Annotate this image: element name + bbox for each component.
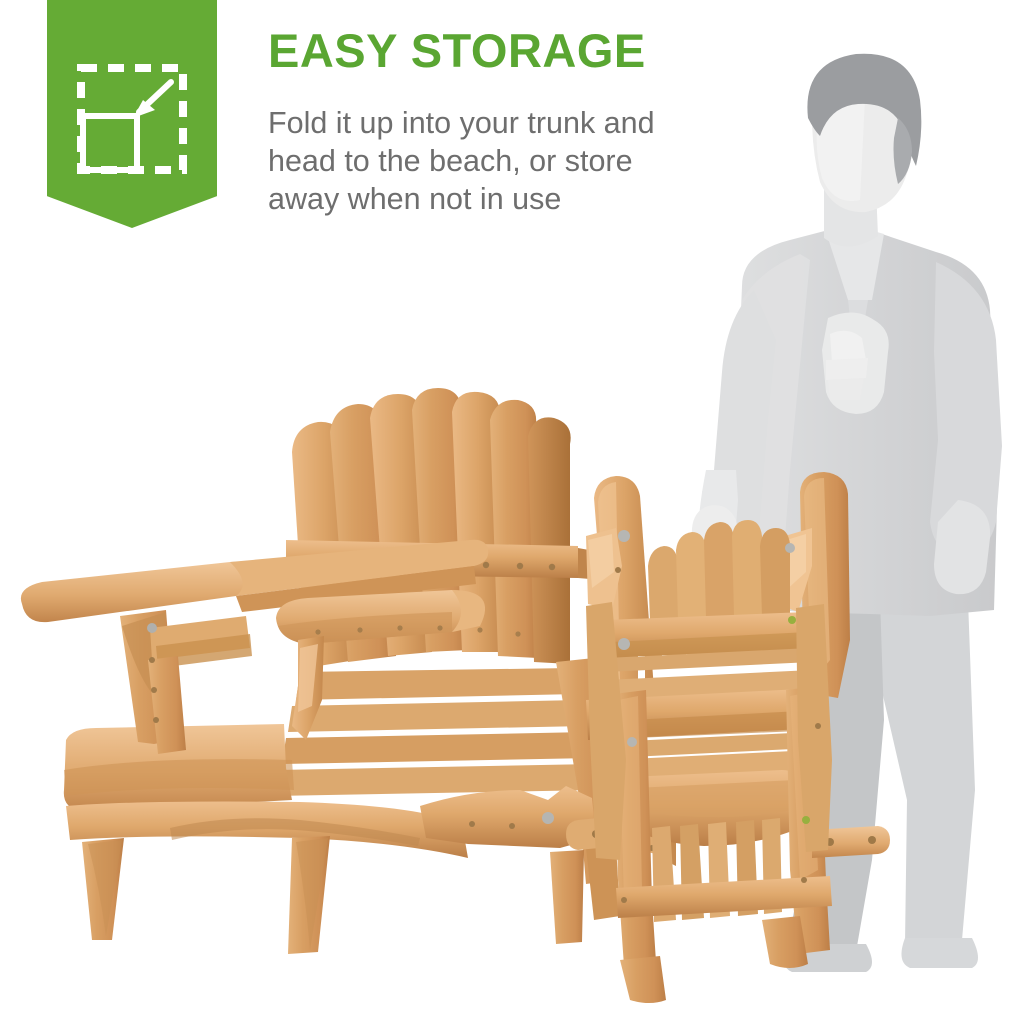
feature-description: Fold it up into your trunk and head to t… xyxy=(268,104,788,218)
description-line-1: Fold it up into your trunk and xyxy=(268,104,788,142)
leg-rear xyxy=(550,850,584,944)
description-line-3: away when not in use xyxy=(268,180,788,218)
armrest-left xyxy=(21,562,256,622)
adirondack-chair-open xyxy=(21,388,676,954)
lower-front-rail xyxy=(66,802,468,859)
description-line-2: head to the beach, or store xyxy=(268,142,788,180)
product-feature-image: EASY STORAGE Fold it up into your trunk … xyxy=(0,0,1024,1024)
folded-foot-right xyxy=(762,916,808,968)
folded-back-slats xyxy=(648,520,790,622)
page-title: EASY STORAGE xyxy=(268,26,646,77)
screws-arm-left xyxy=(147,623,157,633)
feature-ribbon xyxy=(47,0,217,228)
chair-seat-slats xyxy=(274,668,598,796)
fold-shrink-icon xyxy=(75,62,189,176)
folded-foot-left xyxy=(620,956,666,1003)
